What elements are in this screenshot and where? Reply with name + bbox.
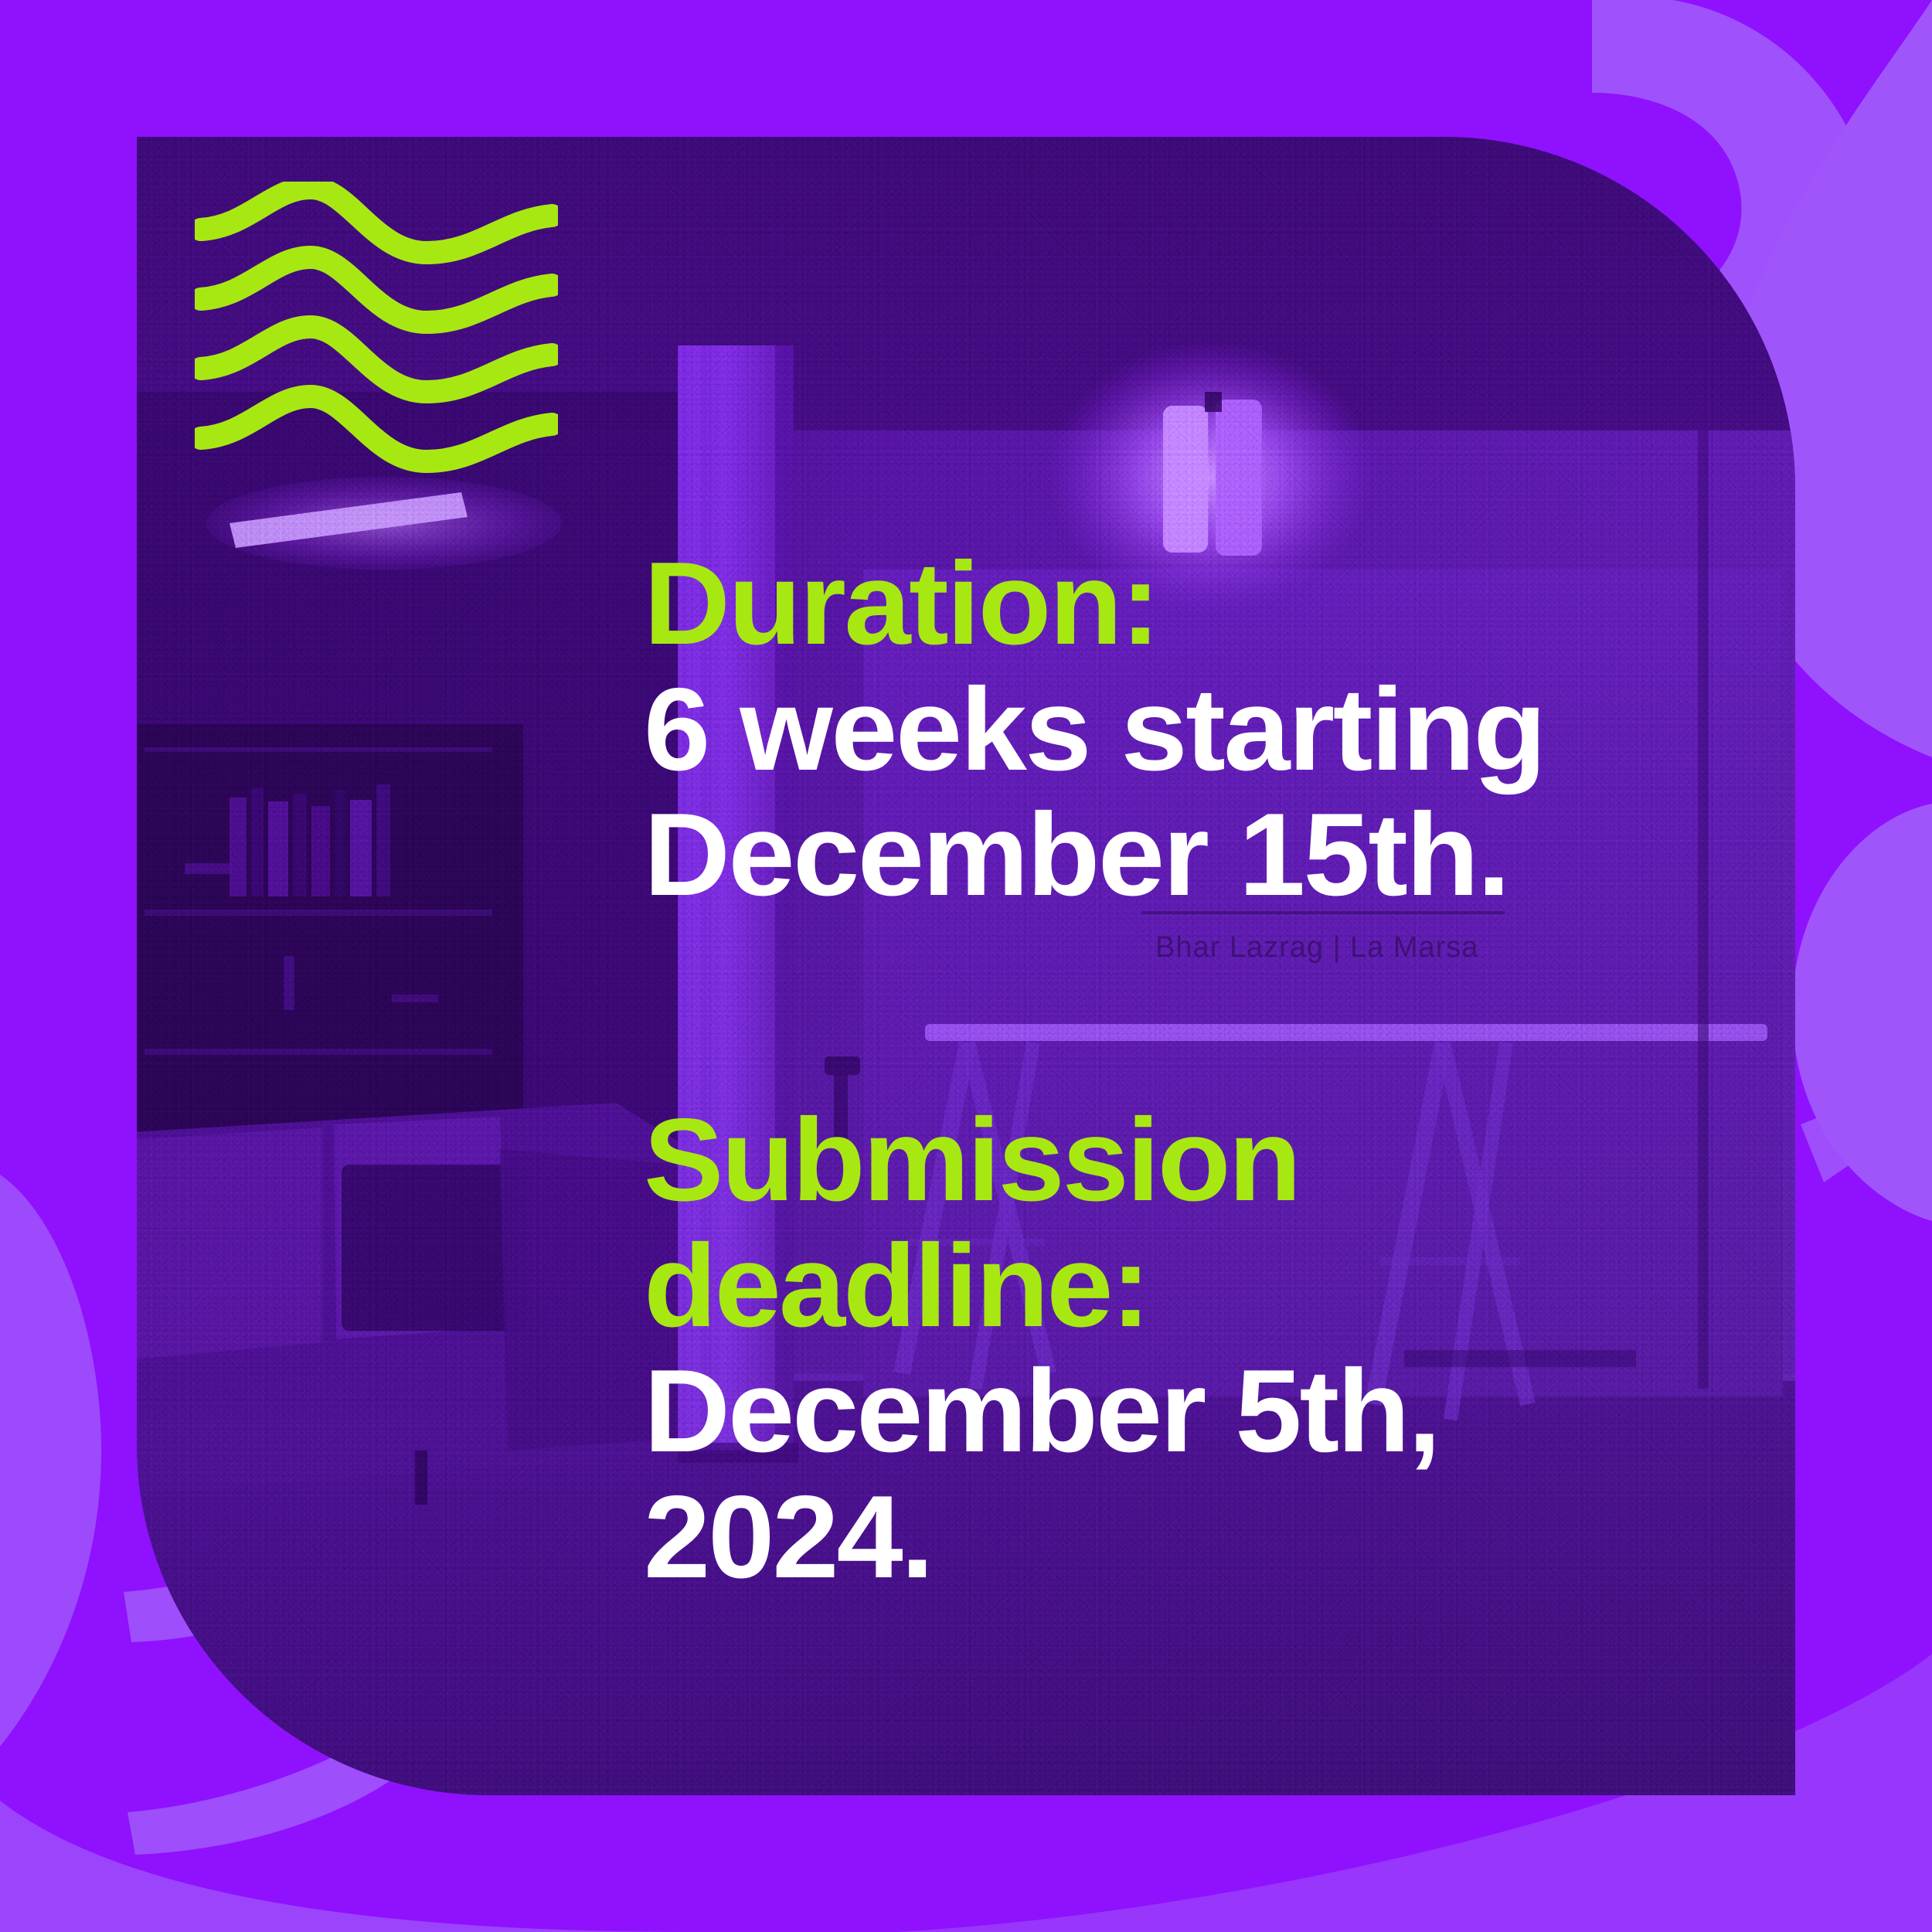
- deadline-body-line-2: 2024.: [644, 1475, 1771, 1600]
- deadline-block: Submission deadline: December 5th, 2024.: [644, 1097, 1749, 1600]
- poster-canvas: Bhar Lazrag | La Marsa Duration: 6 weeks…: [0, 0, 1932, 1932]
- deco-sliver-right: [1801, 1066, 1932, 1182]
- wave-line-4: [201, 396, 552, 461]
- duration-body-line-1: 6 weeks starting: [644, 667, 1771, 793]
- deco-band-bottom-left: [0, 1801, 696, 1932]
- wave-line-2: [201, 257, 552, 322]
- duration-body-line-2: December 15th.: [644, 792, 1771, 918]
- deadline-body-line-1: December 5th,: [644, 1349, 1771, 1475]
- duration-block: Duration: 6 weeks starting December 15th…: [644, 541, 1749, 918]
- copy-container: Duration: 6 weeks starting December 15th…: [644, 541, 1749, 1600]
- wave-line-1: [201, 188, 552, 253]
- deadline-heading-line-1: Submission: [644, 1097, 1771, 1223]
- wave-line-3: [201, 327, 552, 392]
- wave-lines-icon: [195, 182, 558, 491]
- deco-arc-left: [0, 1175, 101, 1747]
- deco-blob-right: [1792, 804, 1932, 1221]
- deadline-heading-line-2: deadline:: [644, 1223, 1771, 1349]
- duration-heading: Duration:: [644, 541, 1771, 667]
